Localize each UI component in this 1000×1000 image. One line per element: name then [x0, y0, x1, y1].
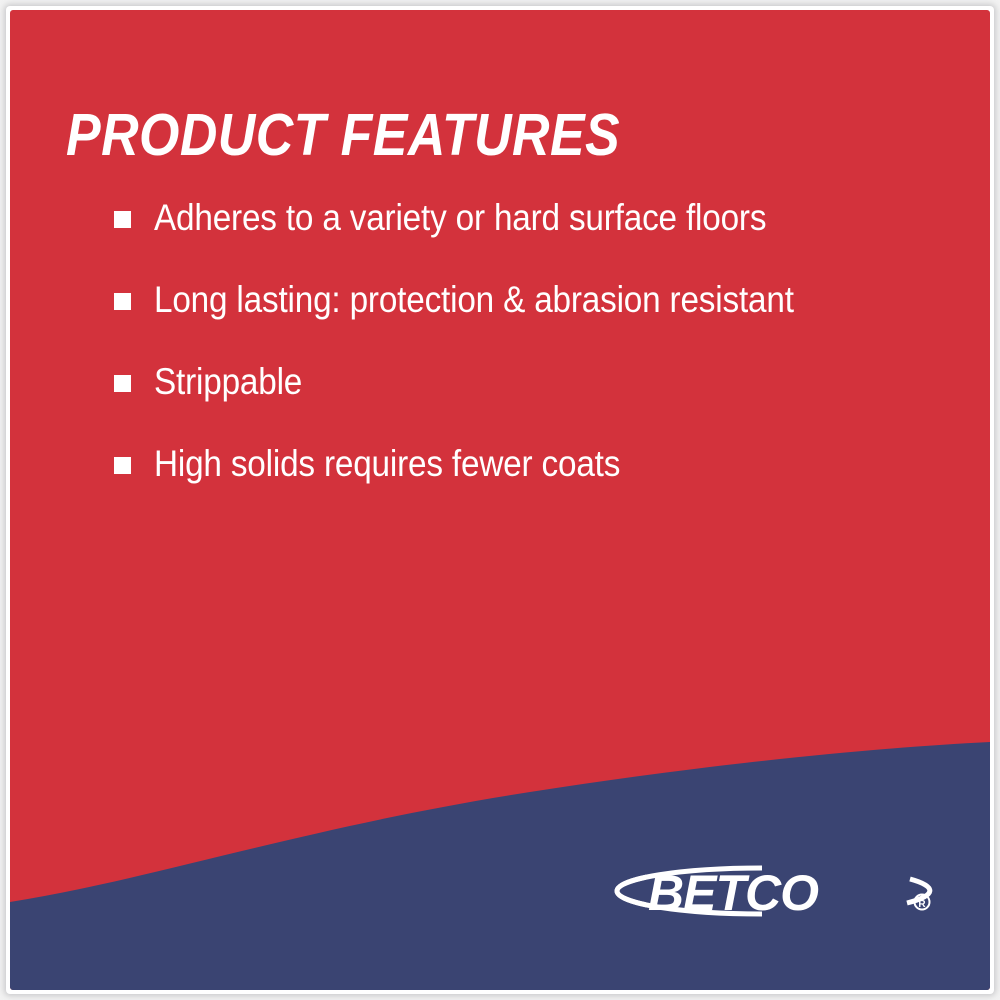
list-item: Long lasting: protection & abrasion resi…	[114, 278, 944, 360]
product-features-card: PRODUCT FEATURES Adheres to a variety or…	[0, 0, 1000, 1000]
feature-label: High solids requires fewer coats	[154, 442, 865, 486]
square-bullet-icon	[114, 293, 131, 310]
feature-list: Adheres to a variety or hard surface flo…	[114, 196, 944, 524]
list-item: High solids requires fewer coats	[114, 442, 944, 524]
red-card-surface: PRODUCT FEATURES Adheres to a variety or…	[10, 10, 990, 990]
square-bullet-icon	[114, 211, 131, 228]
feature-label: Adheres to a variety or hard surface flo…	[154, 196, 865, 240]
page-title: PRODUCT FEATURES	[66, 106, 620, 165]
square-bullet-icon	[114, 457, 131, 474]
feature-label: Strippable	[154, 360, 865, 404]
registered-trademark-letter: R	[918, 899, 926, 910]
square-bullet-icon	[114, 375, 131, 392]
list-item: Strippable	[114, 360, 944, 442]
betco-logo: BETCO R	[610, 858, 940, 924]
betco-logo-icon: BETCO R	[610, 858, 940, 924]
list-item: Adheres to a variety or hard surface flo…	[114, 196, 944, 278]
feature-label: Long lasting: protection & abrasion resi…	[154, 278, 865, 322]
